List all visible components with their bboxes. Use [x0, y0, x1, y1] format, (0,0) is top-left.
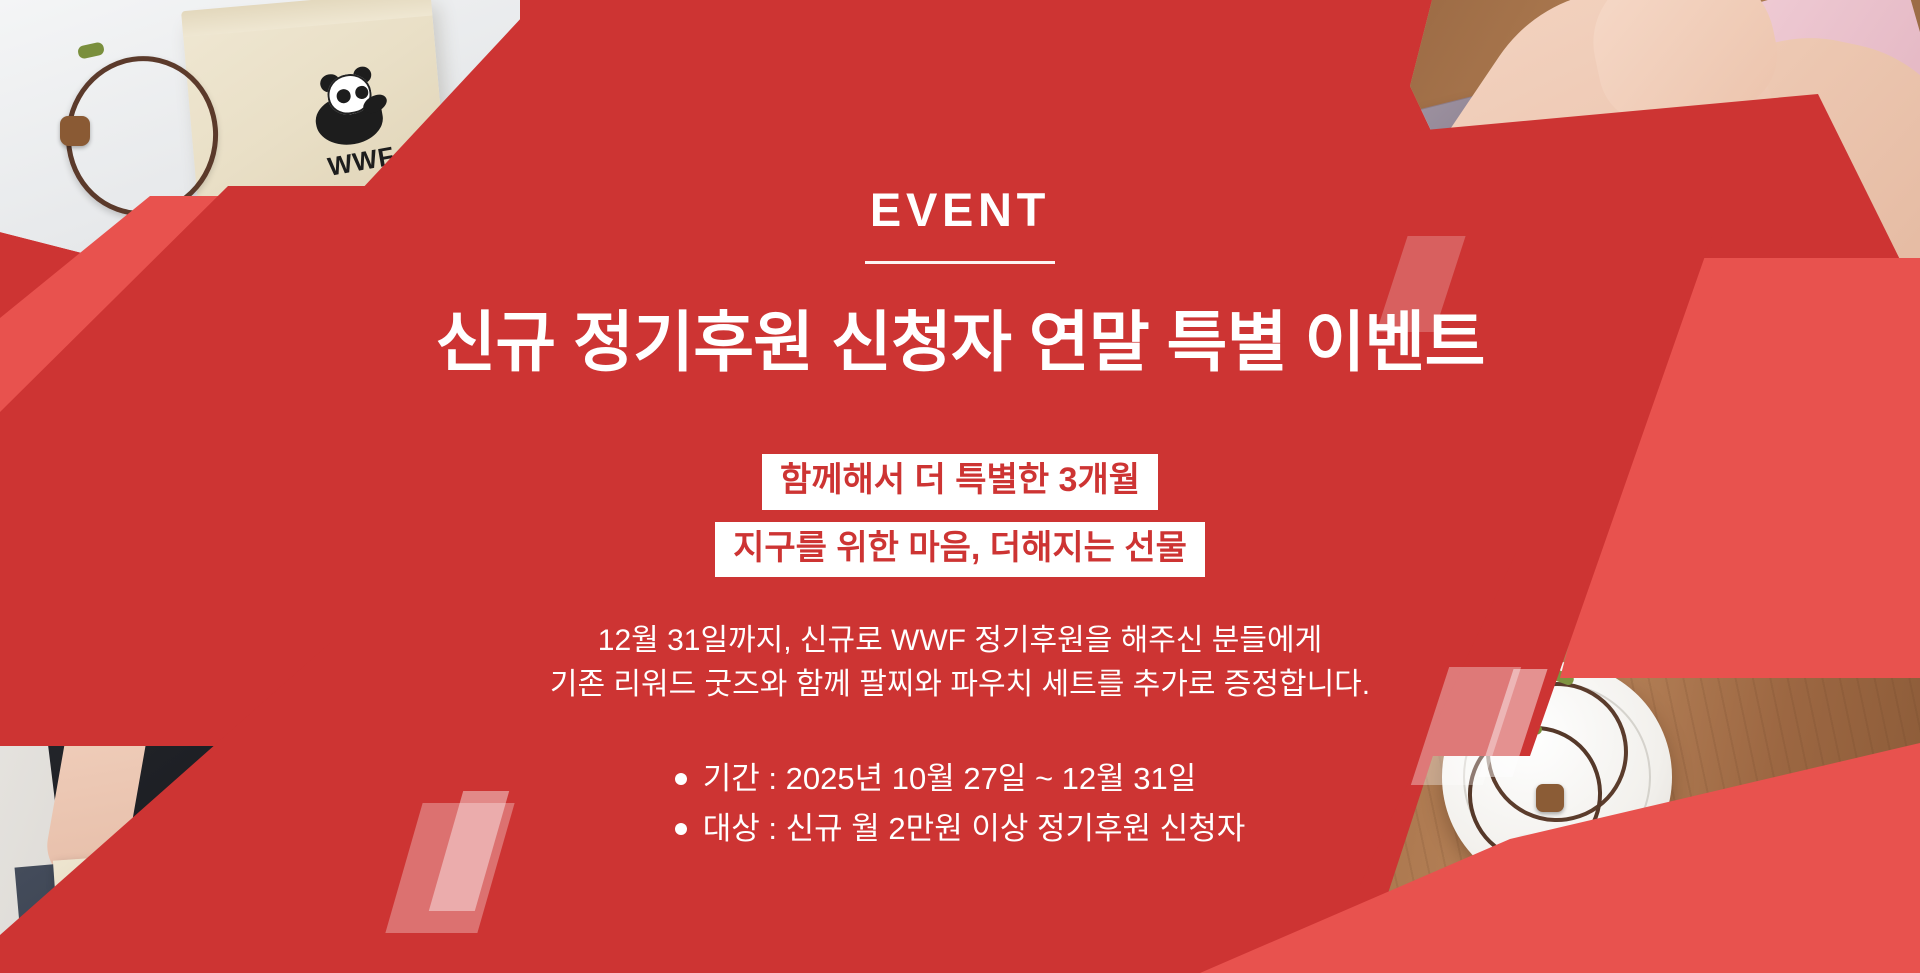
eyebrow-divider [865, 261, 1055, 264]
bullet-dot-icon [675, 823, 687, 835]
highlight-box-group: 함께해서 더 특별한 3개월 지구를 위한 마음, 더해지는 선물 [715, 454, 1205, 577]
body-line-2: 기존 리워드 굿즈와 함께 팔찌와 파우치 세트를 추가로 증정합니다. [550, 663, 1370, 707]
bullet-text-eligibility: 대상 : 신규 월 2만원 이상 정기후원 신청자 [703, 804, 1245, 854]
body-line-1: 12월 31일까지, 신규로 WWF 정기후원을 해주신 분들에게 [550, 619, 1370, 663]
list-item: 기간 : 2025년 10월 27일 ~ 12월 31일 [675, 754, 1245, 804]
banner-headline: 신규 정기후원 신청자 연말 특별 이벤트 [435, 306, 1484, 380]
banner-content: EVENT 신규 정기후원 신청자 연말 특별 이벤트 함께해서 더 특별한 3… [0, 0, 1920, 973]
list-item: 대상 : 신규 월 2만원 이상 정기후원 신청자 [675, 804, 1245, 854]
banner-body-text: 12월 31일까지, 신규로 WWF 정기후원을 해주신 분들에게 기존 리워드… [550, 619, 1370, 708]
wwf-event-banner: WWF [0, 0, 1920, 973]
highlight-box-2: 지구를 위한 마음, 더해지는 선물 [715, 522, 1205, 577]
bullet-text-period: 기간 : 2025년 10월 27일 ~ 12월 31일 [703, 754, 1197, 804]
highlight-box-1: 함께해서 더 특별한 3개월 [762, 454, 1158, 509]
bullet-dot-icon [675, 773, 687, 785]
event-details-list: 기간 : 2025년 10월 27일 ~ 12월 31일 대상 : 신규 월 2… [675, 754, 1245, 854]
event-eyebrow-label: EVENT [870, 186, 1050, 233]
